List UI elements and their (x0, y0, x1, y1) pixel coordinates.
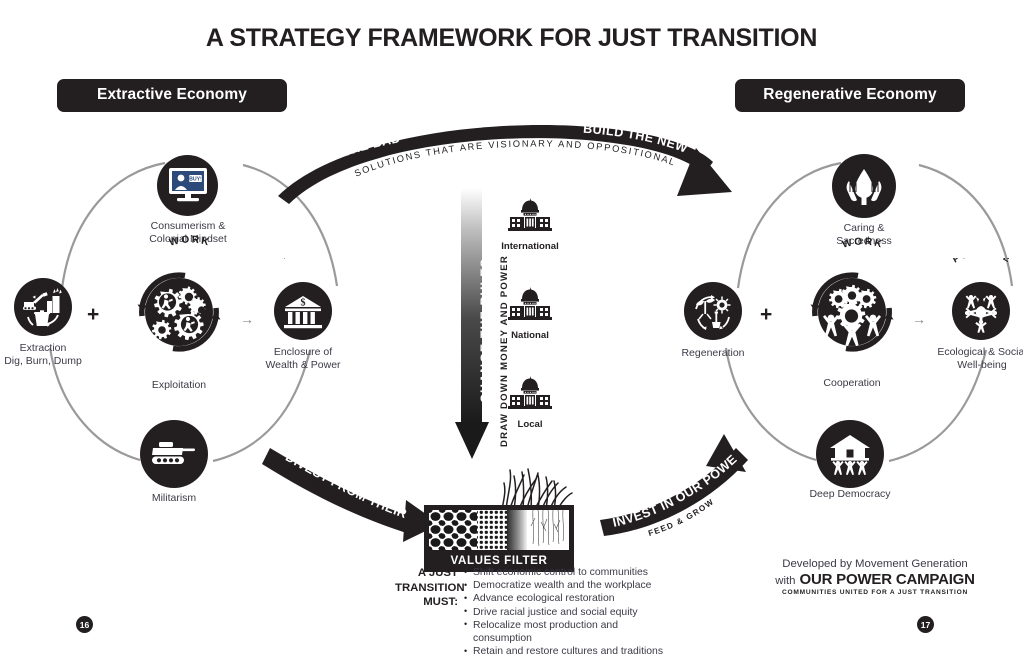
grass-icon (486, 467, 574, 509)
credit-developed-by: Developed by Movement Generation (760, 558, 990, 570)
house-assembly-icon (816, 420, 884, 488)
page-number-right: 17 (917, 616, 934, 633)
extractive-plus-operator: + (87, 303, 99, 327)
extractive-result-arrow: → (240, 311, 254, 327)
bank-dollar-icon: $ (274, 282, 332, 340)
node-label-consumerism: Consumerism & Colonial Mindset (128, 220, 248, 245)
node-label-militarism: Militarism (129, 492, 219, 505)
list-item: Relocalize most production and consumpti… (464, 619, 674, 645)
node-label-enclosure: Enclosure of Wealth & Power (252, 346, 354, 371)
seedling-sun-shovel-icon (684, 282, 742, 340)
list-item: Retain and restore cultures and traditio… (464, 645, 674, 658)
filter-layers-graphic (429, 510, 569, 550)
invest-arrow: INVEST IN OUR POWER FEED & GROW (596, 424, 786, 544)
capitol-building-icon (504, 285, 556, 323)
gov-level-label: Local (495, 419, 565, 430)
hands-water-drop-icon (832, 154, 896, 218)
gov-level-international: International (495, 196, 565, 252)
page-number-left: 16 (76, 616, 93, 633)
butterfly-people-icon (952, 282, 1010, 340)
just-transition-must-label: A JUST TRANSITION MUST: (395, 566, 458, 610)
node-label-exploitation: Exploitation (129, 379, 229, 392)
node-label-deep-democracy: Deep Democracy (805, 488, 895, 501)
regenerative-result-arrow: → (912, 311, 926, 327)
gov-level-label: National (495, 330, 565, 341)
tank-icon (140, 420, 208, 488)
divest-arrow: DIVEST FROM THEIR POWER STARVE & STOP (258, 438, 448, 553)
credits-block: Developed by Movement Generation with OU… (760, 558, 990, 596)
regenerative-plus-operator: + (760, 303, 772, 327)
node-label-extraction: Extraction Dig, Burn, Dump (0, 342, 96, 367)
gears-cooperation-icon (806, 266, 898, 358)
gov-level-national: National (495, 285, 565, 341)
node-label-wellbeing: Ecological & Social Well-being (922, 346, 1023, 371)
infographic-canvas: A STRATEGY FRAMEWORK FOR JUST TRANSITION… (0, 0, 1023, 645)
tv-buy-icon: BUY! (157, 155, 218, 216)
just-transition-must-list: Shift economic control to communities De… (464, 566, 674, 658)
capitol-building-icon (504, 374, 556, 412)
center-arrow-main-label: CHANGE THE RULES (478, 258, 492, 403)
top-banner-arrow: STOP THE BAD BUILD THE NEW SOLUTIONS THA… (258, 100, 768, 210)
values-filter: VALUES FILTER (424, 505, 574, 572)
gov-level-label: International (495, 241, 565, 252)
credit-with-word: with (775, 575, 795, 587)
list-item: Shift economic control to communities (464, 566, 674, 579)
credit-org-line: with OUR POWER CAMPAIGN (760, 571, 990, 588)
credit-tagline: COMMUNITIES UNITED FOR A JUST TRANSITION (760, 589, 990, 596)
svg-text:$: $ (301, 298, 306, 309)
list-item: Democratize wealth and the workplace (464, 579, 674, 592)
invest-arrow-main-label: INVEST IN OUR POWER (591, 413, 740, 530)
values-filter-frame: VALUES FILTER (424, 505, 574, 572)
gears-workers-icon (133, 266, 225, 358)
capitol-building-icon (504, 196, 556, 234)
gov-level-local: Local (495, 374, 565, 430)
node-label-caring: Caring & Sacredness (808, 222, 920, 247)
credit-org-name: OUR POWER CAMPAIGN (799, 571, 974, 588)
node-label-regeneration: Regeneration (668, 347, 758, 360)
node-label-cooperation: Cooperation (802, 377, 902, 390)
svg-text:BUY!: BUY! (189, 176, 202, 182)
list-item: Advance ecological restoration (464, 592, 674, 605)
divest-arrow-main-label: DIVEST FROM THEIR POWER (252, 427, 412, 522)
list-item: Drive racial justice and social equity (464, 606, 674, 619)
excavator-factory-trash-icon (14, 278, 72, 336)
